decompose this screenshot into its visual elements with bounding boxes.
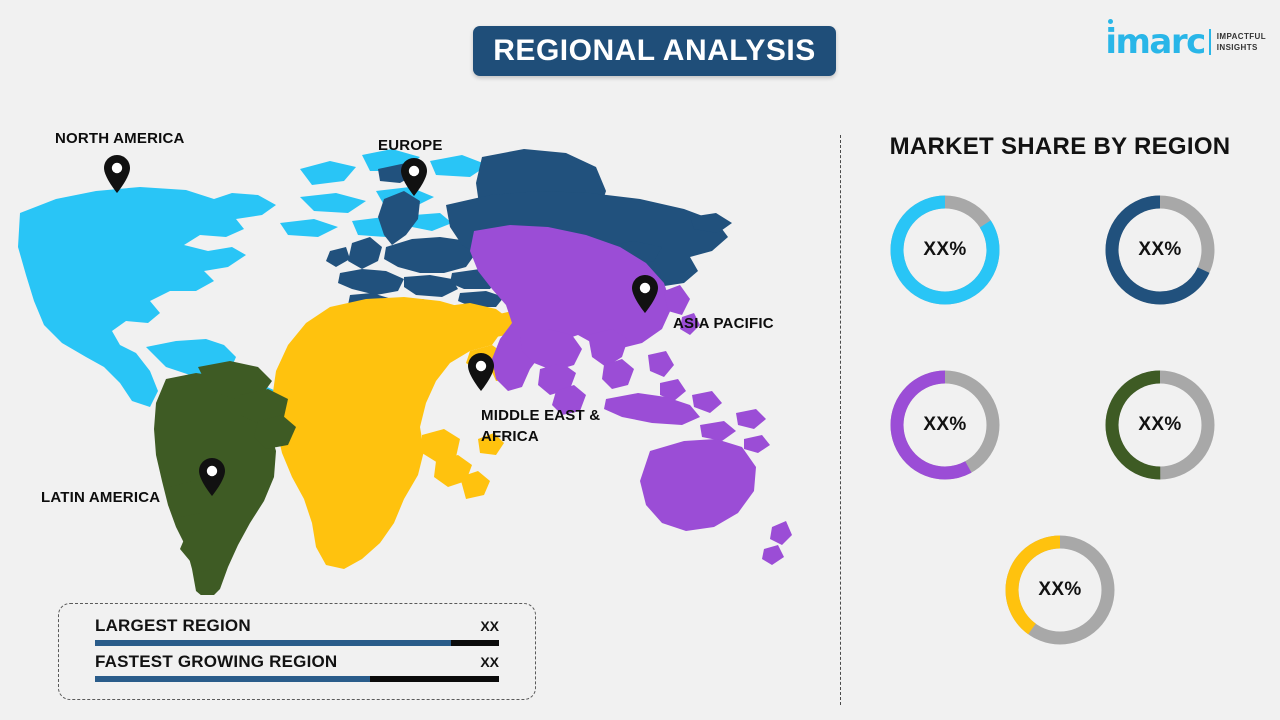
page-title: REGIONAL ANALYSIS (493, 34, 815, 68)
logo-tagline-line2: INSIGHTS (1217, 42, 1266, 53)
donut-chart-middle-east-africa: XX% (999, 529, 1121, 651)
legend-bar-track (95, 640, 499, 646)
donut-chart-latin-america: XX% (1099, 364, 1221, 486)
donut-value-label: XX% (1099, 189, 1221, 311)
page-title-banner: REGIONAL ANALYSIS (473, 26, 836, 76)
legend-label: LARGEST REGION (95, 616, 251, 636)
logo-wordmark: imarc (1105, 25, 1204, 59)
logo-tagline: IMPACTFUL INSIGHTS (1217, 31, 1266, 53)
logo-tagline-line1: IMPACTFUL (1217, 31, 1266, 42)
legend-bar-track (95, 676, 499, 682)
map-pin-north-america[interactable] (104, 155, 130, 193)
donut-value-label: XX% (999, 529, 1121, 651)
legend-row-largest-region: LARGEST REGION XX (95, 616, 499, 646)
regional-analysis-infographic: REGIONAL ANALYSIS imarc IMPACTFUL INSIGH… (0, 0, 1280, 720)
map-region-latin-america (154, 361, 296, 595)
map-region-asia-pacific (470, 225, 792, 565)
donut-value-label: XX% (884, 189, 1006, 311)
panel-divider (840, 135, 841, 705)
legend-value: XX (480, 654, 499, 670)
world-map-panel: NORTH AMERICA EUROPE ASIA PACIFIC MIDDLE… (0, 95, 830, 595)
map-label-north-america: NORTH AMERICA (55, 128, 185, 149)
market-share-title: MARKET SHARE BY REGION (840, 133, 1280, 161)
map-label-latin-america: LATIN AMERICA (41, 487, 160, 508)
donut-value-label: XX% (884, 364, 1006, 486)
legend-value: XX (480, 618, 499, 634)
map-pin-latin-america[interactable] (199, 458, 225, 496)
map-pin-middle-east-africa[interactable] (468, 353, 494, 391)
legend-row-fastest-growing-region: FASTEST GROWING REGION XX (95, 652, 499, 682)
map-label-europe: EUROPE (378, 135, 443, 156)
logo-divider (1209, 29, 1211, 55)
legend-label: FASTEST GROWING REGION (95, 652, 337, 672)
legend-box: LARGEST REGION XX FASTEST GROWING REGION… (58, 603, 536, 700)
imarc-logo: imarc IMPACTFUL INSIGHTS (1105, 22, 1266, 62)
map-pin-europe[interactable] (401, 158, 427, 196)
donut-chart-asia-pacific: XX% (884, 364, 1006, 486)
donut-chart-europe: XX% (1099, 189, 1221, 311)
map-pin-asia-pacific[interactable] (632, 275, 658, 313)
donut-value-label: XX% (1099, 364, 1221, 486)
legend-bar-fill (95, 640, 451, 646)
legend-bar-fill (95, 676, 370, 682)
map-label-middle-east-africa: MIDDLE EAST & AFRICA (481, 405, 600, 447)
map-label-asia-pacific: ASIA PACIFIC (673, 313, 774, 334)
donut-chart-north-america: XX% (884, 189, 1006, 311)
